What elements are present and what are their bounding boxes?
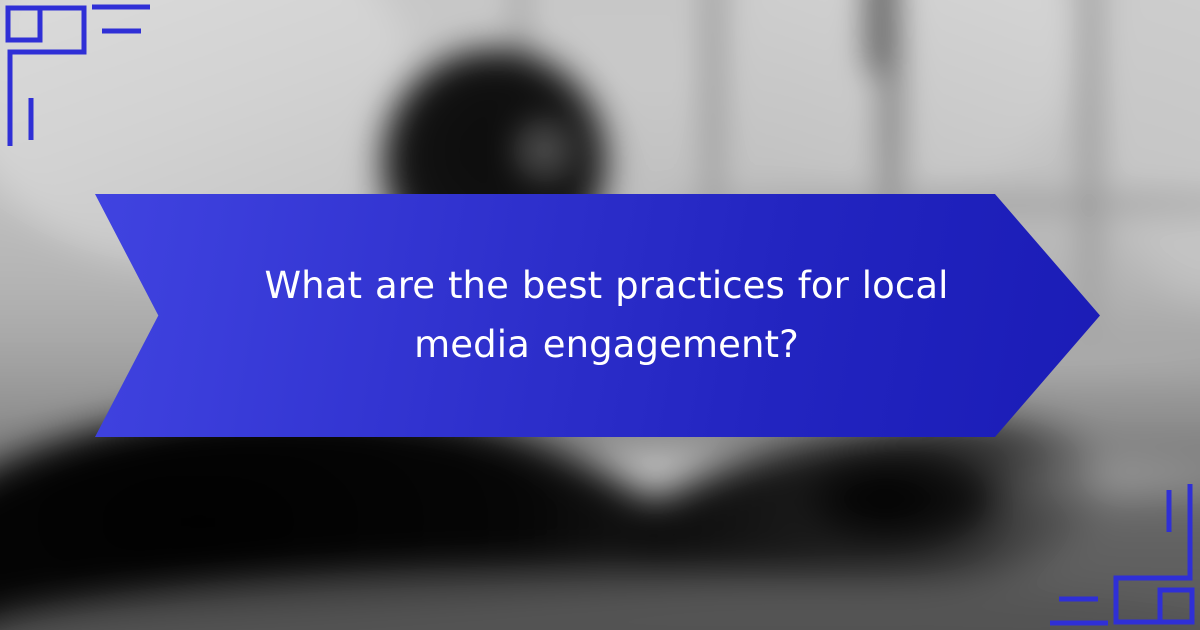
- photo-head-highlight: [514, 120, 573, 180]
- question-card: What are the best practices for local me…: [0, 0, 1200, 630]
- question-title: What are the best practices for local me…: [242, 257, 972, 374]
- circuit-corner-top-left-icon: [0, 0, 200, 200]
- photo-shelf-object: [864, 0, 893, 75]
- circuit-corner-bottom-right-icon: [1000, 430, 1200, 630]
- photo-person-hand: [811, 450, 996, 548]
- question-banner: What are the best practices for local me…: [95, 194, 1100, 437]
